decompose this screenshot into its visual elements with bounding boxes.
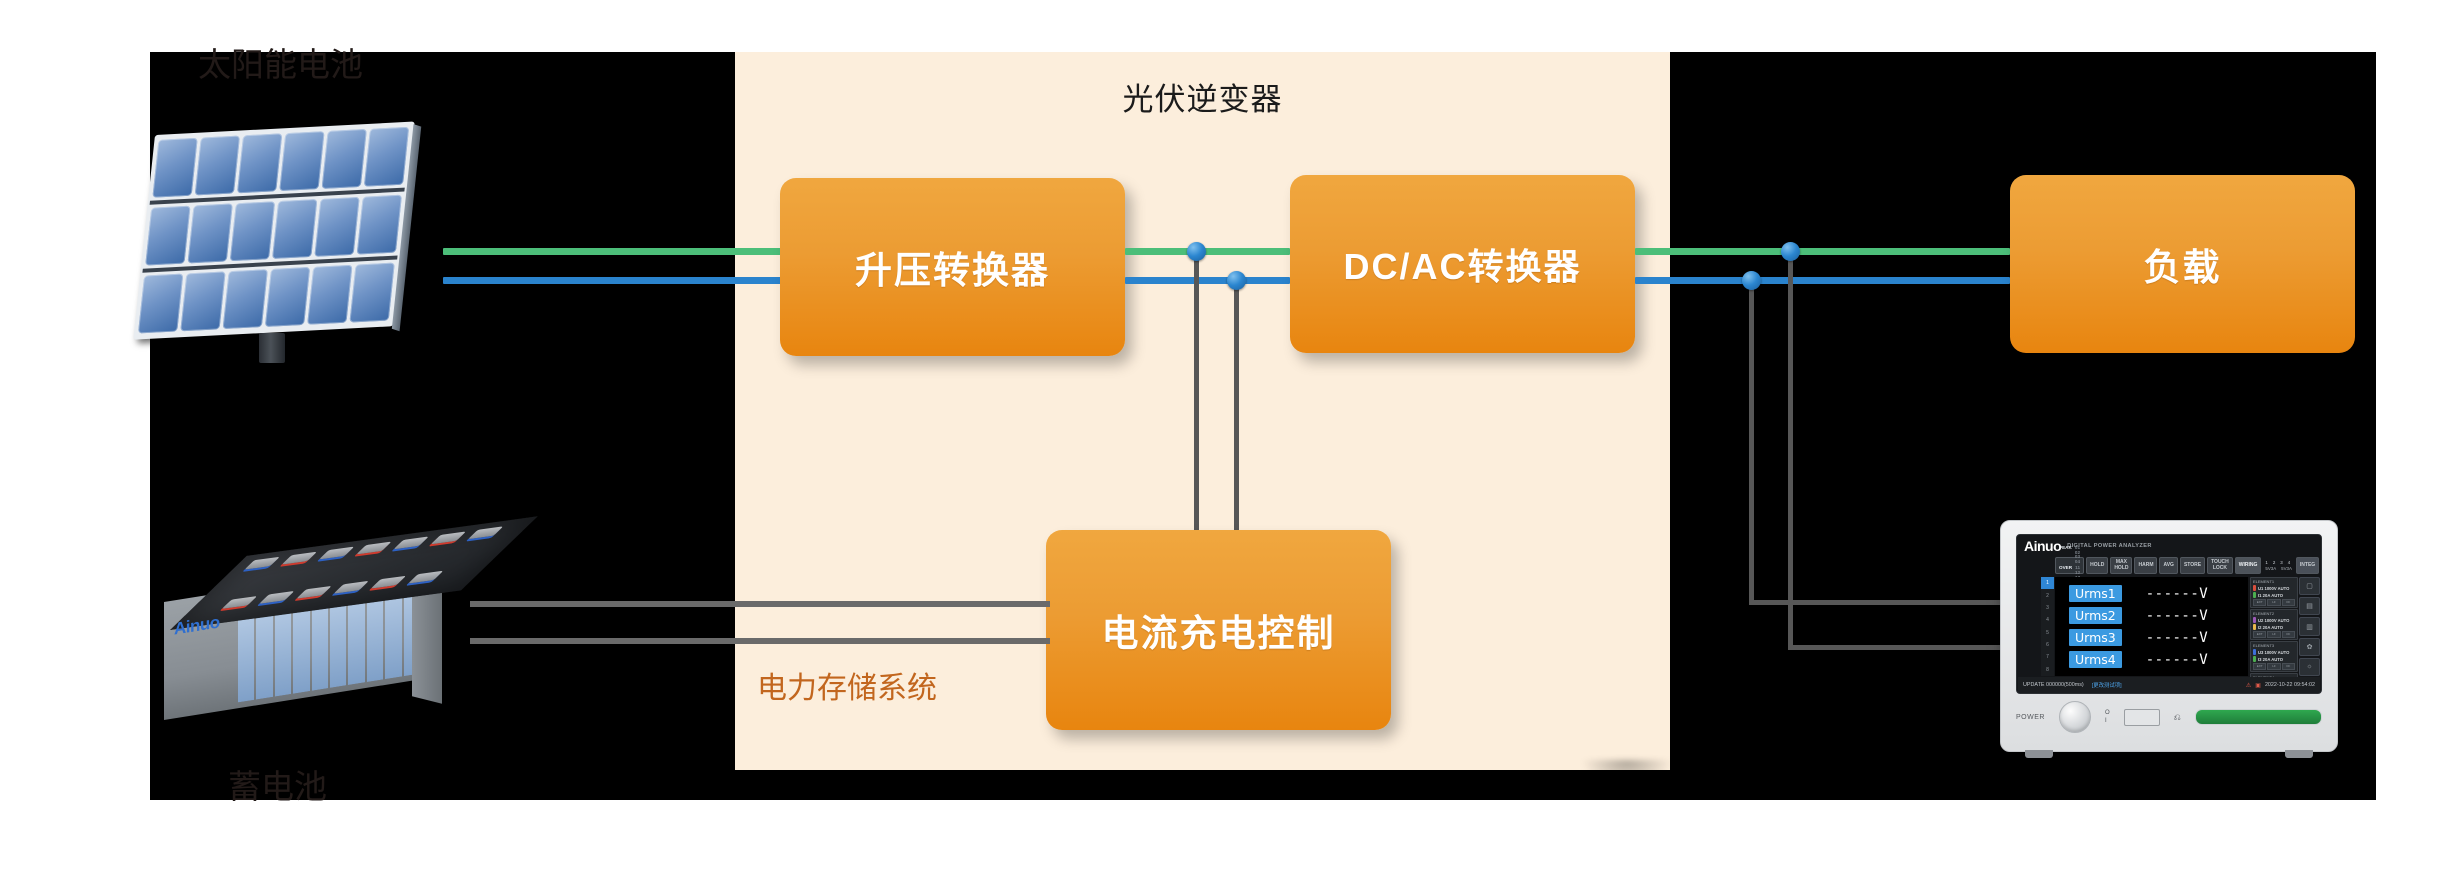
wiring-range-2: 5V3A: [2281, 566, 2292, 571]
element1-title: ELEMENT1: [2253, 579, 2295, 584]
alarm-icon: ⚠: [2246, 682, 2251, 689]
index-item-6[interactable]: 6: [2041, 639, 2054, 651]
solar-panel-label: 太阳能电池: [198, 38, 363, 86]
bus-green-solar: [443, 248, 798, 255]
index-item-4[interactable]: 4: [2041, 614, 2054, 626]
index-item-7[interactable]: 7: [2041, 651, 2054, 663]
dcac-converter-label: DC/AC转换器: [1344, 238, 1582, 290]
element3-current: I3 20A AUTO: [2258, 657, 2283, 662]
index-item-2[interactable]: 2: [2041, 589, 2054, 601]
pv-inverter-title: 光伏逆变器: [735, 74, 1670, 119]
detail-icon[interactable]: ▥: [2299, 617, 2320, 635]
analyzer-front-panel: POWER O I ⎌: [2016, 695, 2322, 739]
power-off-mark: I: [2105, 717, 2110, 725]
wire-blue-tap-drop: [1234, 280, 1239, 533]
bus-green-mid: [1125, 248, 1290, 255]
measurement-row: Urms4 ------V: [2055, 651, 2248, 668]
wiring-ch4: 4: [2288, 560, 2290, 565]
analyzer-feet: [2025, 750, 2313, 758]
measurement-row: Urms3 ------V: [2055, 629, 2248, 646]
graph-icon[interactable]: ▤: [2299, 597, 2320, 615]
node-green-tap-left: [1187, 242, 1206, 261]
dcac-converter-block[interactable]: DC/AC转换器: [1290, 175, 1635, 353]
analyzer-element-panel: ELEMENT1 U1 1000V AUTO I1 20A AUTO EXTLF…: [2250, 577, 2298, 676]
charge-control-label: 电流充电控制: [1102, 603, 1336, 657]
wire-green-tap-drop: [1194, 251, 1199, 533]
wiring-channel-status: 1 2 3 4 5V3A 5V3A: [2263, 557, 2294, 574]
analyzer-timestamp: 2022-10-22 09:54:02: [2265, 682, 2315, 688]
boost-converter-block[interactable]: 升压转换器: [780, 178, 1125, 356]
battery-graphic: Ainuo: [150, 520, 495, 720]
system-icon[interactable]: ☼: [2299, 658, 2320, 676]
element1-btn-lf[interactable]: LF: [2267, 599, 2280, 606]
element-card[interactable]: ELEMENT3 U3 1000V AUTO I3 20A AUTO EXTLF…: [2250, 641, 2298, 672]
analyzer-brand: Ainuo: [2024, 538, 2061, 554]
energy-storage-system-label: 电力存储系统: [757, 663, 937, 707]
bus-green-out: [1635, 248, 2010, 255]
usb-port[interactable]: [2124, 709, 2160, 726]
power-analyzer-device[interactable]: Ainuo DIGITAL POWER ANALYZER PEAK01 02 0…: [2000, 520, 2338, 752]
power-knob[interactable]: [2059, 701, 2091, 733]
update-status: UPDATE 000000(500ms): [2023, 682, 2084, 688]
element2-voltage: U2 1000V AUTO: [2258, 618, 2289, 623]
integ-button[interactable]: INTEG: [2296, 557, 2319, 574]
urms2-value: ------V: [2146, 608, 2209, 624]
index-item-3[interactable]: 3: [2041, 602, 2054, 614]
element2-title: ELEMENT2: [2253, 611, 2295, 616]
touch-lock-button[interactable]: TOUCH LOCK: [2207, 557, 2233, 574]
change-test-item-link[interactable]: [更改测试项]: [2092, 681, 2122, 689]
wire-green-tap-analyzer-h: [1788, 645, 2013, 650]
element1-current: I1 20A AUTO: [2258, 593, 2283, 598]
solar-panel-graphic: [155, 135, 445, 365]
wiring-ch3: 3: [2280, 560, 2282, 565]
urms2-chip[interactable]: Urms2: [2069, 607, 2122, 624]
measure-icon[interactable]: ✿: [2299, 638, 2320, 656]
analyzer-screen[interactable]: Ainuo DIGITAL POWER ANALYZER PEAK01 02 0…: [2016, 534, 2322, 694]
urms3-chip[interactable]: Urms3: [2069, 629, 2122, 646]
node-green-tap-right: [1781, 242, 1800, 261]
bus-blue-out: [1635, 277, 2010, 284]
element-card[interactable]: ELEMENT2 U2 1000V AUTO I2 20A AUTO EXTLF…: [2250, 609, 2298, 640]
avg-button[interactable]: AVG: [2159, 557, 2177, 574]
analyzer-status-bar: UPDATE 000000(500ms) [更改测试项] ⚠ ▣ 2022-10…: [2018, 677, 2320, 693]
boost-converter-label: 升压转换器: [855, 240, 1050, 294]
element2-btn-lf[interactable]: LF: [2267, 631, 2280, 638]
hold-button[interactable]: HOLD: [2086, 557, 2108, 574]
battery-wire-bottom: [470, 638, 1050, 644]
element2-btn-ff[interactable]: FF: [2282, 631, 2295, 638]
wiring-button[interactable]: WIRING: [2235, 557, 2262, 574]
element2-current: I2 20A AUTO: [2258, 625, 2283, 630]
urms1-value: ------V: [2146, 586, 2209, 602]
analyzer-side-icon-rail[interactable]: ▢ ▤ ▥ ✿ ☼: [2299, 577, 2320, 676]
analyzer-toolbar: PEAK01 02 03 04 OVER11 12 13 14 HOLD MAX…: [2055, 557, 2317, 574]
urms4-value: ------V: [2146, 652, 2209, 668]
measurement-row: Urms2 ------V: [2055, 607, 2248, 624]
urms1-chip[interactable]: Urms1: [2069, 585, 2122, 602]
element1-voltage: U1 1000V AUTO: [2258, 586, 2289, 591]
urms3-value: ------V: [2146, 630, 2209, 646]
element3-btn-ext[interactable]: EXT: [2253, 663, 2266, 670]
wiring-ch2: 2: [2273, 560, 2275, 565]
solar-panel-mount: [259, 333, 285, 363]
element-card[interactable]: ELEMENT1 U1 1000V AUTO I1 20A AUTO EXTLF…: [2250, 577, 2298, 608]
wiring-range-1: 5V3A: [2265, 566, 2276, 571]
node-blue-tap-left: [1227, 271, 1246, 290]
index-item-8[interactable]: 8: [2041, 664, 2054, 676]
bus-blue-solar: [443, 277, 798, 284]
element1-btn-ext[interactable]: EXT: [2253, 599, 2266, 606]
aux-icon[interactable]: ▢: [2299, 577, 2320, 595]
peak-over-status: PEAK01 02 03 04 OVER11 12 13 14: [2055, 557, 2084, 574]
store-button[interactable]: STORE: [2180, 557, 2205, 574]
element3-btn-ff[interactable]: FF: [2282, 663, 2295, 670]
wire-blue-tap-analyzer-h: [1749, 600, 2013, 605]
peak-channels: 01 02 03 04: [2075, 546, 2080, 565]
network-icon: ▣: [2255, 682, 2261, 689]
index-item-1[interactable]: 1: [2041, 577, 2054, 589]
element3-title: ELEMENT3: [2253, 643, 2295, 648]
index-item-5[interactable]: 5: [2041, 627, 2054, 639]
power-io-marks: O I: [2105, 709, 2110, 726]
element3-voltage: U3 1000V AUTO: [2258, 650, 2289, 655]
urms4-chip[interactable]: Urms4: [2069, 651, 2122, 668]
charge-control-block[interactable]: 电流充电控制: [1046, 530, 1391, 730]
wiring-ch1: 1: [2265, 560, 2267, 565]
power-on-mark: O: [2105, 709, 2110, 717]
wire-green-tap-analyzer: [1788, 251, 1793, 649]
wire-blue-tap-analyzer: [1749, 280, 1754, 604]
status-light-bar: [2195, 709, 2322, 725]
diagram-canvas: 光伏逆变器 太阳能电池: [0, 0, 2453, 894]
element1-btn-ff[interactable]: FF: [2282, 599, 2295, 606]
usb-icon: ⎌: [2174, 712, 2181, 723]
bus-blue-mid: [1125, 277, 1290, 284]
element3-btn-lf[interactable]: LF: [2267, 663, 2280, 670]
load-block[interactable]: 负载: [2010, 175, 2355, 353]
analyzer-index-list[interactable]: 1 2 3 4 5 6 7 8: [2041, 577, 2054, 676]
max-hold-button[interactable]: MAX HOLD: [2110, 557, 2132, 574]
measurement-row: Urms1 ------V: [2055, 585, 2248, 602]
battery-wire-top: [470, 601, 1050, 607]
peak-label: PEAK: [2059, 546, 2072, 565]
battery-label: 蓄电池: [228, 760, 327, 808]
power-label: POWER: [2016, 714, 2045, 721]
analyzer-measurement-area: Urms1 ------V Urms2 ------V Urms3 ------…: [2055, 577, 2248, 676]
harm-button[interactable]: HARM: [2134, 557, 2157, 574]
load-label: 负载: [2144, 237, 2222, 291]
element2-btn-ext[interactable]: EXT: [2253, 631, 2266, 638]
node-blue-tap-right: [1742, 271, 1761, 290]
